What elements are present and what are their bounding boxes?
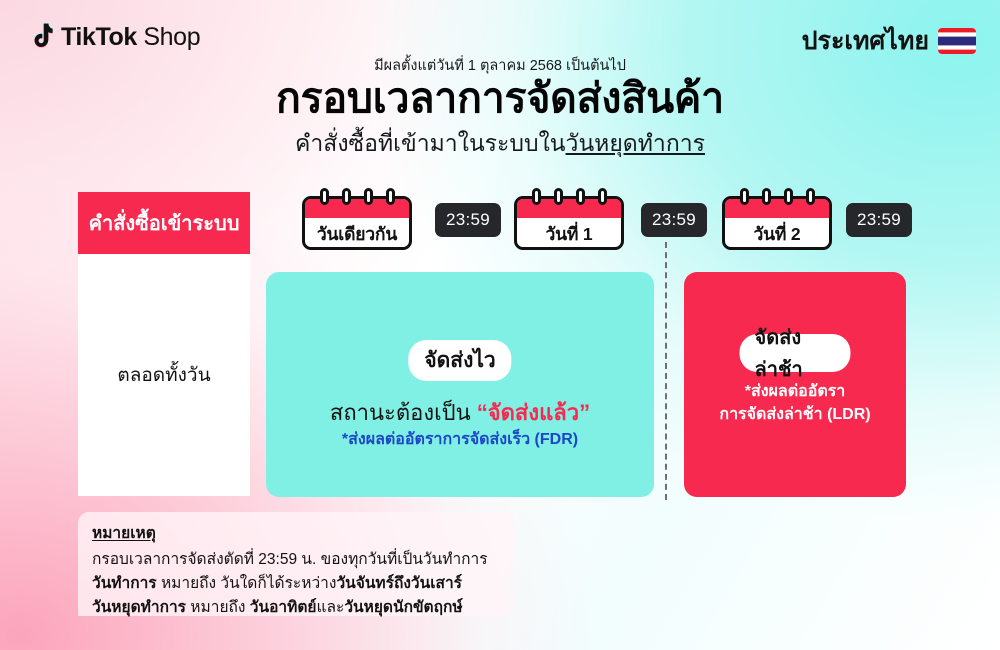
calendar-ring-icon [784, 188, 793, 205]
fast-status-prefix: สถานะต้องเป็น [330, 400, 477, 425]
page-subtitle: คำสั่งซื้อที่เข้ามาในระบบในวันหยุดทำการ [0, 126, 1000, 162]
calendar-same-day: วันเดียวกัน [302, 188, 412, 250]
footnote-title: หมายเหตุ [92, 520, 500, 545]
calendar-ring-icon [386, 188, 395, 205]
footnote-line3-conj: และ [316, 599, 344, 616]
footnote-sunday: วันอาทิตย์ [250, 599, 317, 616]
fast-delivery-footnote: *ส่งผลต่ออัตราการจัดส่งเร็ว (FDR) [266, 427, 654, 452]
page-title: กรอบเวลาการจัดส่งสินค้า [0, 74, 1000, 122]
calendar-label: วันที่ 2 [725, 218, 829, 249]
logo-wordmark: TikTok Shop [61, 23, 200, 52]
calendar-ring-icon [342, 188, 351, 205]
footnote-line-3: วันหยุดทำการ หมายถึง วันอาทิตย์และวันหยุ… [92, 596, 500, 620]
fast-delivery-panel: จัดส่งไว สถานะต้องเป็น “จัดส่งแล้ว” *ส่ง… [266, 272, 654, 497]
footnote-term-holiday: วันหยุดทำการ [92, 599, 186, 616]
tiktok-shop-logo: TikTok Shop [28, 22, 200, 52]
tiktok-note-icon [28, 22, 54, 52]
footnote-line-1: กรอบเวลาการจัดส่งตัดที่ 23:59 น. ของทุกว… [92, 548, 500, 572]
logo-shop-label: Shop [143, 23, 200, 51]
late-delivery-pill: จัดส่งล่าช้า [740, 334, 851, 372]
calendar-ring-icon [532, 188, 541, 205]
subtitle-underlined: วันหยุดทำการ [566, 130, 705, 156]
calendar-label: วันที่ 1 [517, 218, 621, 249]
footnote-term-workday: วันทำการ [92, 575, 157, 592]
logo-tiktok-text: TikTok [61, 23, 137, 51]
calendar-ring-icon [806, 188, 815, 205]
fast-delivery-status: สถานะต้องเป็น “จัดส่งแล้ว” [266, 395, 654, 430]
order-intake-value: ตลอดทั้งวัน [117, 360, 210, 390]
calendar-ring-icon [554, 188, 563, 205]
late-delivery-panel: จัดส่งล่าช้า *ส่งผลต่ออัตรา การจัดส่งล่า… [684, 272, 906, 497]
calendar-day-1: วันที่ 1 [514, 188, 624, 250]
calendar-rings [722, 188, 832, 206]
fast-delivery-pill: จัดส่งไว [408, 340, 511, 381]
calendar-ring-icon [598, 188, 607, 205]
fast-status-highlight: “จัดส่งแล้ว” [477, 400, 590, 425]
footnote-box: หมายเหตุ กรอบเวลาการจัดส่งตัดที่ 23:59 น… [78, 512, 514, 616]
order-intake-header: คำสั่งซื้อเข้าระบบ [78, 192, 250, 254]
late-note-line-1: *ส่งผลต่ออัตรา [684, 380, 906, 403]
footnote-public-holiday: วันหยุดนักขัตฤกษ์ [344, 599, 462, 616]
order-intake-body: ตลอดทั้งวัน [78, 254, 250, 496]
calendar-rings [302, 188, 412, 206]
footnote-line2-mid: หมายถึง วันใดก็ได้ระหว่าง [157, 575, 337, 592]
cutoff-chip-3: 23:59 [846, 203, 912, 237]
calendar-ring-icon [576, 188, 585, 205]
footnote-line-2: วันทำการ หมายถึง วันใดก็ได้ระหว่างวันจัน… [92, 572, 500, 596]
timeline-divider [665, 242, 667, 500]
cutoff-chip-1: 23:59 [435, 203, 501, 237]
calendar-ring-icon [762, 188, 771, 205]
subtitle-prefix: คำสั่งซื้อที่เข้ามาในระบบใน [295, 130, 566, 156]
footnote-range-mon-sat: วันจันทร์ถึงวันเสาร์ [336, 575, 462, 592]
calendar-ring-icon [320, 188, 329, 205]
thailand-flag-icon [938, 28, 976, 54]
late-note-line-2: การจัดส่งล่าช้า (LDR) [684, 403, 906, 426]
calendar-ring-icon [740, 188, 749, 205]
calendar-day-2: วันที่ 2 [722, 188, 832, 250]
cutoff-chip-2: 23:59 [641, 203, 707, 237]
calendar-ring-icon [364, 188, 373, 205]
infographic-canvas: TikTok Shop ประเทศไทย มีผลตั้งแต่วันที่ … [0, 0, 1000, 650]
footnote-line3-mid: หมายถึง [186, 599, 250, 616]
late-delivery-note: *ส่งผลต่ออัตรา การจัดส่งล่าช้า (LDR) [684, 380, 906, 426]
calendar-rings [514, 188, 624, 206]
calendar-label: วันเดียวกัน [305, 218, 409, 249]
